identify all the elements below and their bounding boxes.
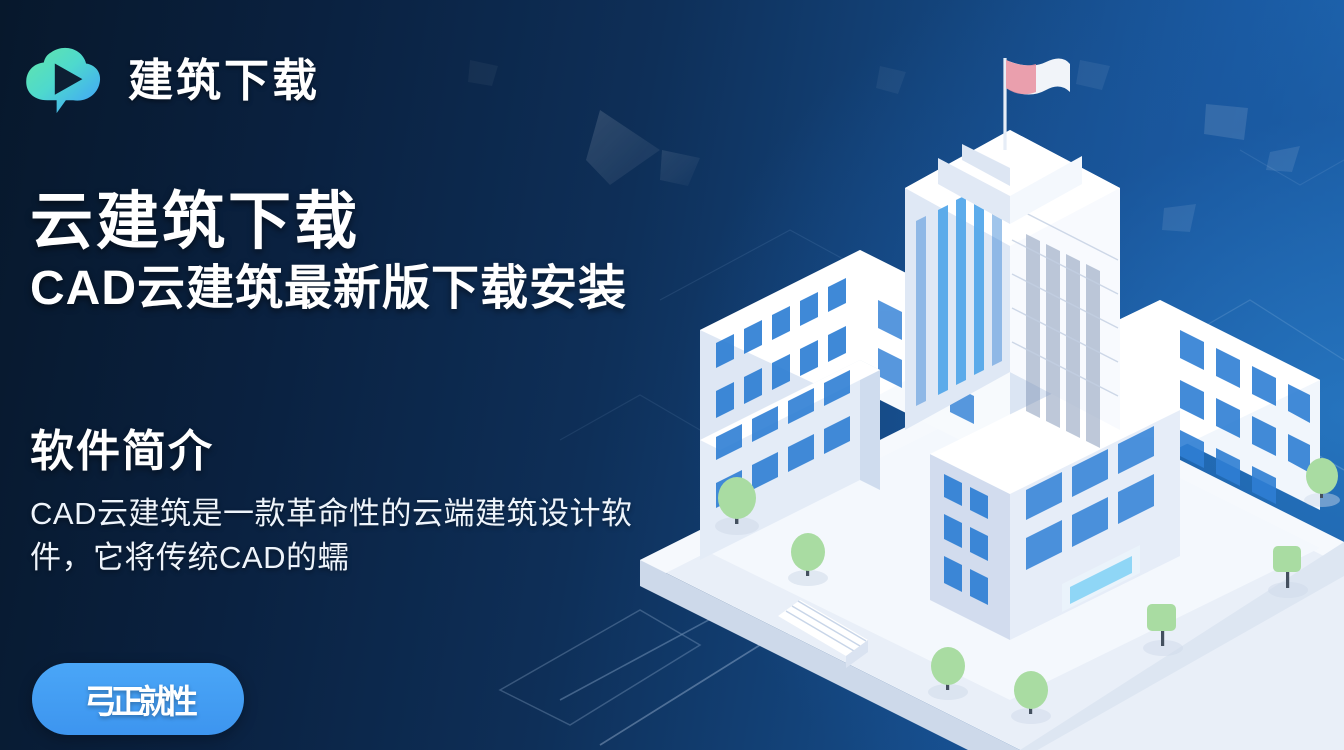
page-title: 云建筑下载 [30, 188, 790, 256]
tree [1143, 604, 1183, 656]
promo-banner: 建筑下载 云建筑下载 CAD云建筑最新版下载安装 软件简介 CAD云建筑是一款革… [0, 0, 1344, 750]
section-heading: 软件简介 [30, 428, 690, 476]
entrance-stairs [778, 600, 868, 668]
central-tower [905, 58, 1120, 448]
tree [715, 477, 759, 535]
isometric-building-illustration [640, 58, 1344, 750]
download-button-label: 弓正就性 [84, 675, 192, 723]
tree [1304, 458, 1340, 507]
tree [928, 647, 968, 700]
brand-name: 建筑下载 [128, 58, 320, 103]
download-button[interactable]: 弓正就性 [32, 663, 244, 735]
left-front-block [700, 360, 880, 560]
flag-icon [1005, 58, 1070, 150]
tree [1268, 546, 1308, 598]
tree-group [715, 458, 1340, 724]
tree [1011, 671, 1051, 724]
section-body-text: CAD云建筑是一款革命性的云端建筑设计软件，它将传统CAD的蠕 [30, 492, 670, 580]
intro-block: 软件简介 CAD云建筑是一款革命性的云端建筑设计软件，它将传统CAD的蠕 [30, 428, 690, 580]
tree [788, 533, 828, 586]
page-subtitle: CAD云建筑最新版下载安装 [30, 263, 790, 316]
right-front-block [930, 370, 1180, 640]
cloud-play-icon [18, 34, 110, 126]
brand-logo[interactable]: 建筑下载 [18, 34, 320, 126]
headline-block: 云建筑下载 CAD云建筑最新版下载安装 [30, 188, 790, 316]
ground-platform [640, 375, 1344, 750]
right-wing [1010, 300, 1320, 510]
